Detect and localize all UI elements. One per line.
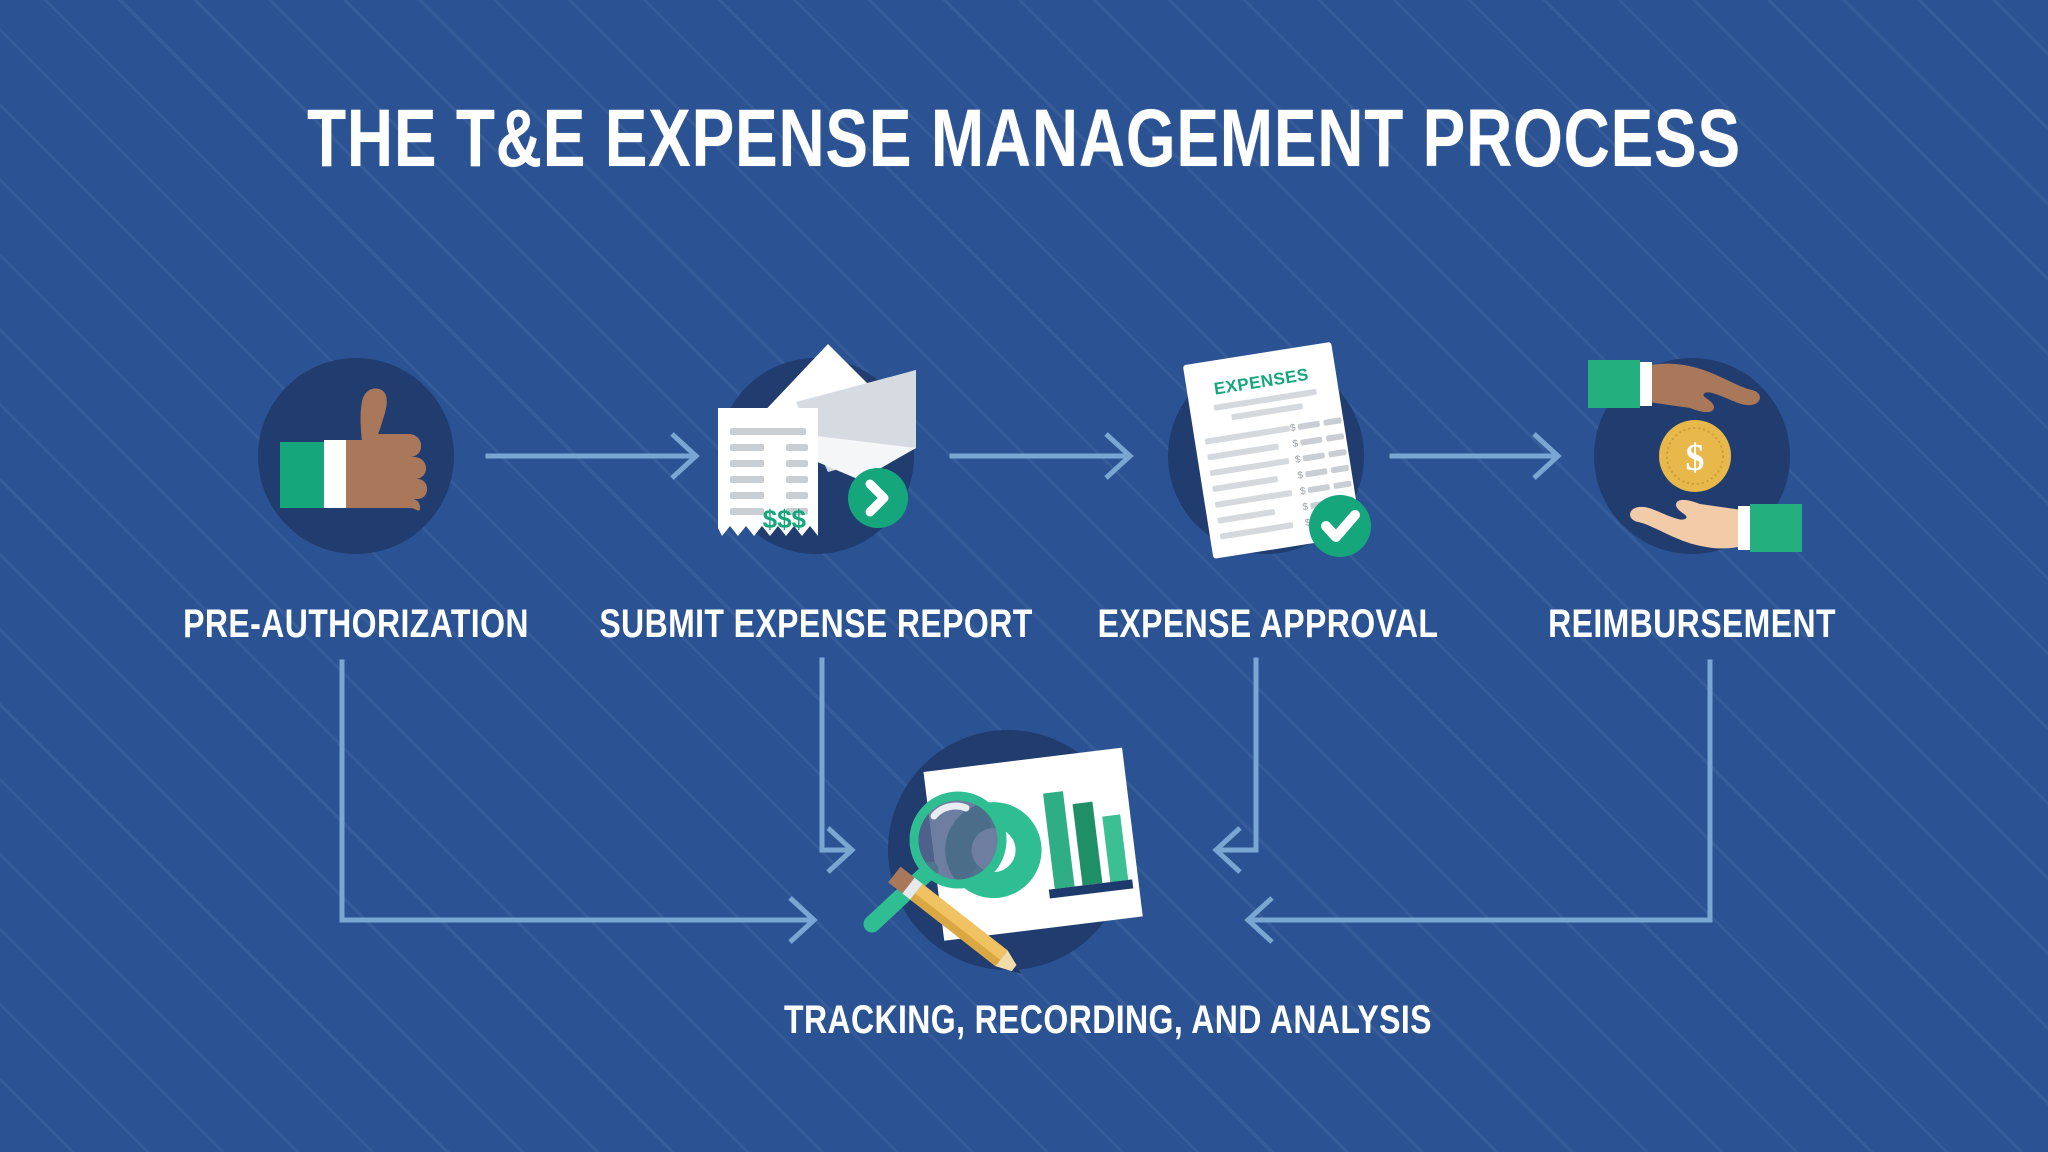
hands-coin-icon: $ xyxy=(1580,348,1810,564)
step-label-pre-authorization: PRE-AUTHORIZATION xyxy=(116,602,596,646)
receipt-amount-label: $$$ xyxy=(763,504,807,534)
expenses-document-icon: EXPENSES xyxy=(1150,330,1400,580)
step-label-submit-expense-report: SUBMIT EXPENSE REPORT xyxy=(576,602,1056,646)
receipt-envelope-icon: $$$ xyxy=(690,330,950,580)
step-label-reimbursement: REIMBURSEMENT xyxy=(1452,602,1932,646)
analysis-report-icon xyxy=(848,718,1178,988)
step-label-tracking-recording-analysis: TRACKING, RECORDING, AND ANALYSIS xyxy=(784,998,1264,1042)
thumbs-up-icon xyxy=(258,358,454,554)
infographic-canvas: THE T&E EXPENSE MANAGEMENT PROCESS xyxy=(0,0,2048,1152)
coin-dollar-symbol: $ xyxy=(1686,437,1705,479)
step-label-expense-approval: EXPENSE APPROVAL xyxy=(1028,602,1508,646)
page-title: THE T&E EXPENSE MANAGEMENT PROCESS xyxy=(225,96,1822,182)
